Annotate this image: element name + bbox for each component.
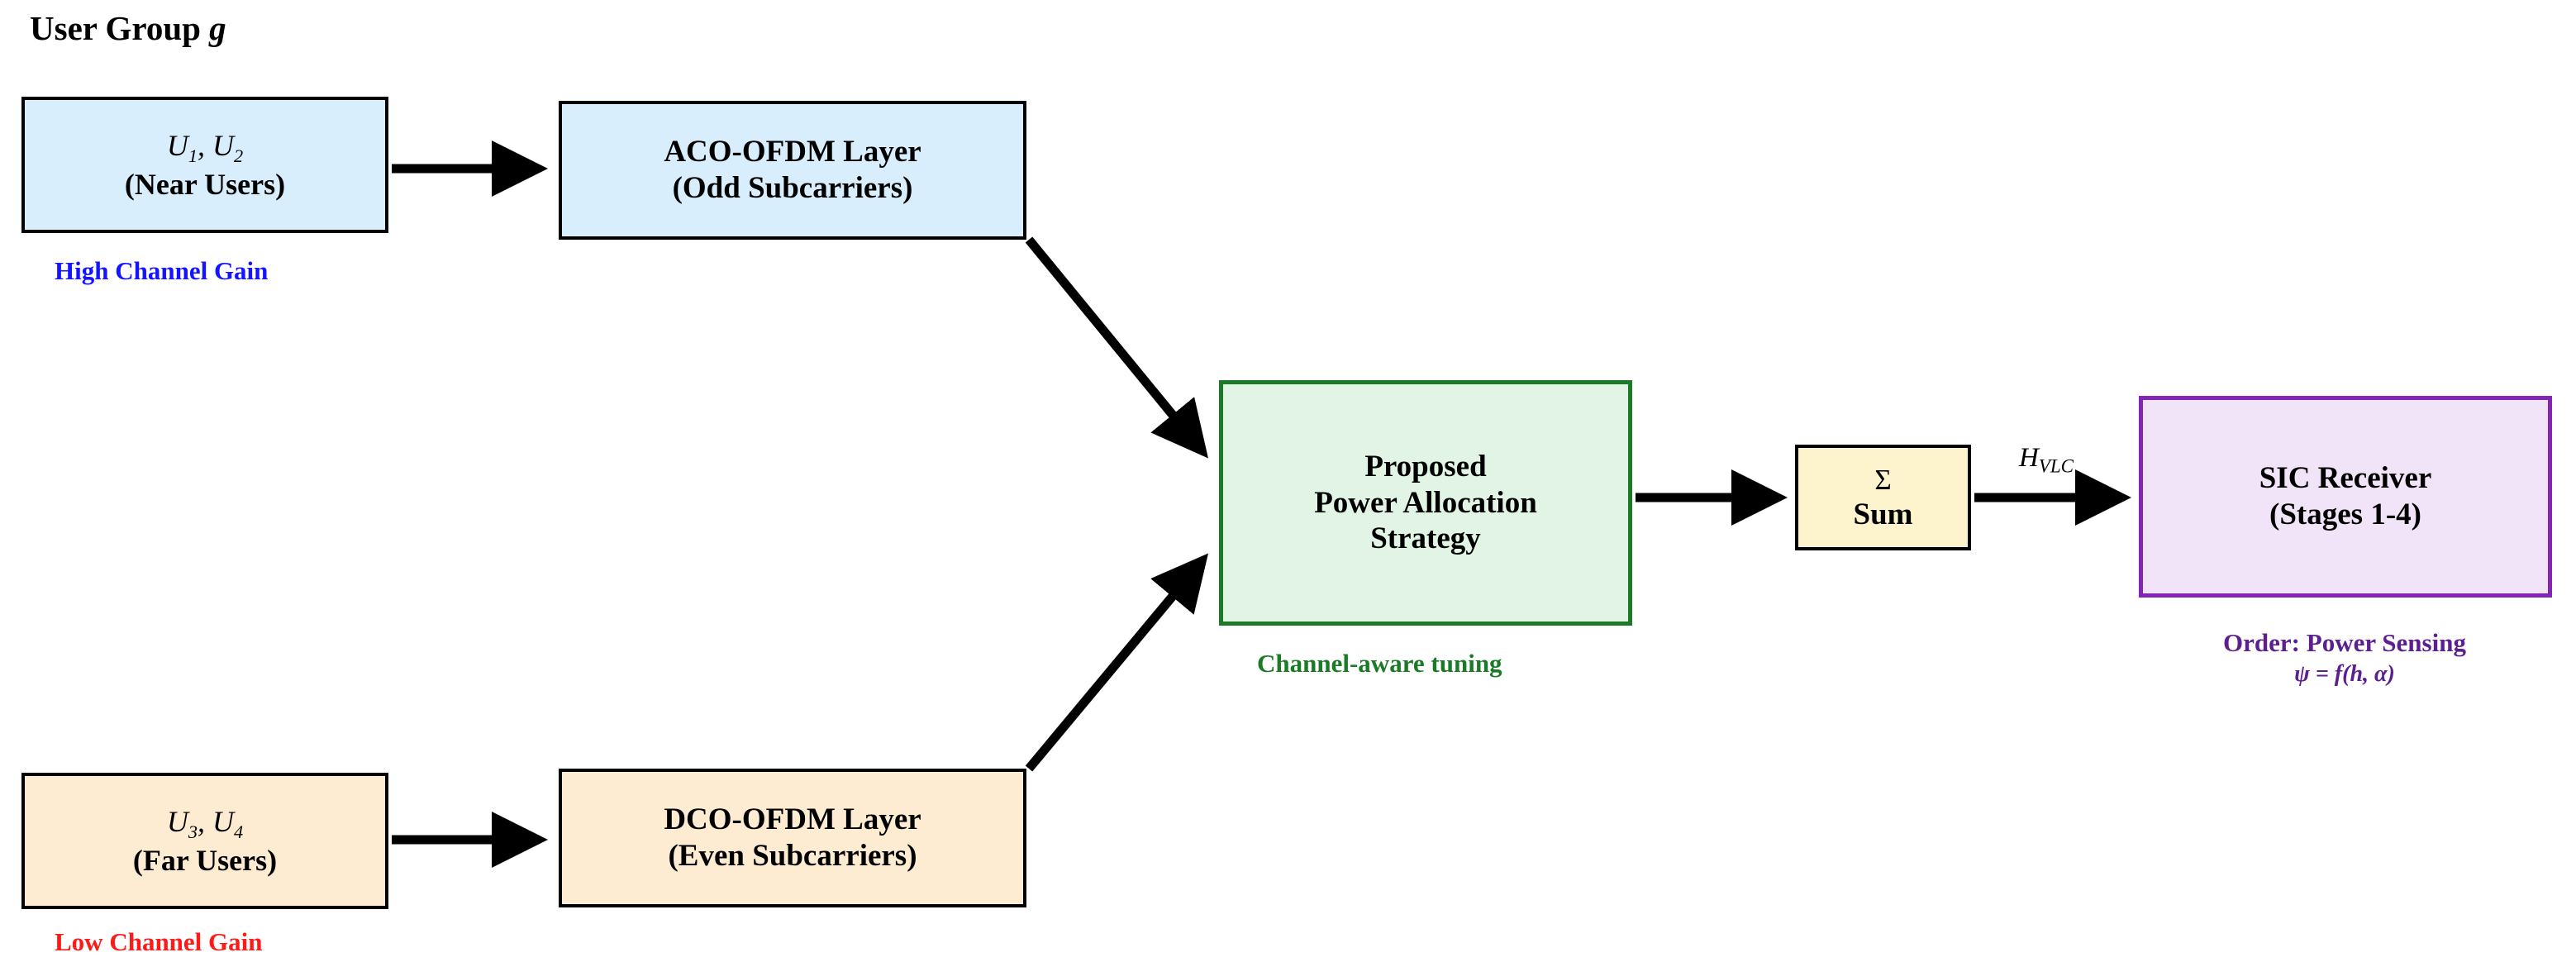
node-sic-receiver[interactable]: SIC Receiver (Stages 1-4) (2139, 396, 2552, 598)
diagram-canvas: User Group g U1, U2 (Near Users) High Ch… (0, 0, 2576, 962)
dco-layer-subtitle: (Even Subcarriers) (668, 838, 917, 874)
node-far-users[interactable]: U3, U4 (Far Users) (21, 773, 388, 909)
power-alloc-line2: Power Allocation (1314, 485, 1537, 521)
node-dco-ofdm-layer[interactable]: DCO-OFDM Layer (Even Subcarriers) (559, 769, 1026, 907)
far-users-subtitle: (Far Users) (133, 843, 277, 878)
h-vlc-subscript: VLC (2039, 456, 2074, 477)
caption-order-power-sensing: Order: Power Sensing (2179, 628, 2510, 658)
h-vlc-base: H (2019, 443, 2039, 473)
sigma-icon: Σ (1874, 463, 1891, 497)
aco-layer-subtitle: (Odd Subcarriers) (673, 170, 913, 207)
page-title-prefix: User Group (30, 9, 209, 47)
near-users-user-labels: U1, U2 (167, 128, 243, 168)
caption-psi-formula: ψ = f(h, α) (2179, 661, 2510, 688)
caption-channel-aware-tuning: Channel-aware tuning (1257, 649, 1502, 679)
node-sum[interactable]: Σ Sum (1795, 445, 1971, 550)
near-users-subtitle: (Near Users) (125, 167, 285, 202)
node-power-allocation-strategy[interactable]: Proposed Power Allocation Strategy (1219, 380, 1632, 626)
sic-receiver-title: SIC Receiver (2259, 460, 2432, 497)
arrow-aco-to-power (1029, 240, 1202, 451)
arrow-dco-to-power (1029, 560, 1202, 769)
node-near-users[interactable]: U1, U2 (Near Users) (21, 97, 388, 233)
page-title-variable: g (209, 9, 226, 47)
sic-receiver-subtitle: (Stages 1-4) (2269, 497, 2421, 533)
far-users-user-labels: U3, U4 (167, 804, 243, 844)
edge-label-h-vlc: HVLC (2019, 443, 2074, 478)
node-aco-ofdm-layer[interactable]: ACO-OFDM Layer (Odd Subcarriers) (559, 101, 1026, 240)
caption-low-channel-gain: Low Channel Gain (55, 927, 263, 957)
dco-layer-title: DCO-OFDM Layer (664, 802, 921, 838)
page-title: User Group g (30, 8, 226, 48)
caption-high-channel-gain: High Channel Gain (55, 256, 268, 286)
sum-label: Sum (1854, 497, 1913, 533)
power-alloc-line1: Proposed (1364, 449, 1486, 485)
power-alloc-line3: Strategy (1370, 521, 1481, 557)
aco-layer-title: ACO-OFDM Layer (664, 134, 921, 170)
